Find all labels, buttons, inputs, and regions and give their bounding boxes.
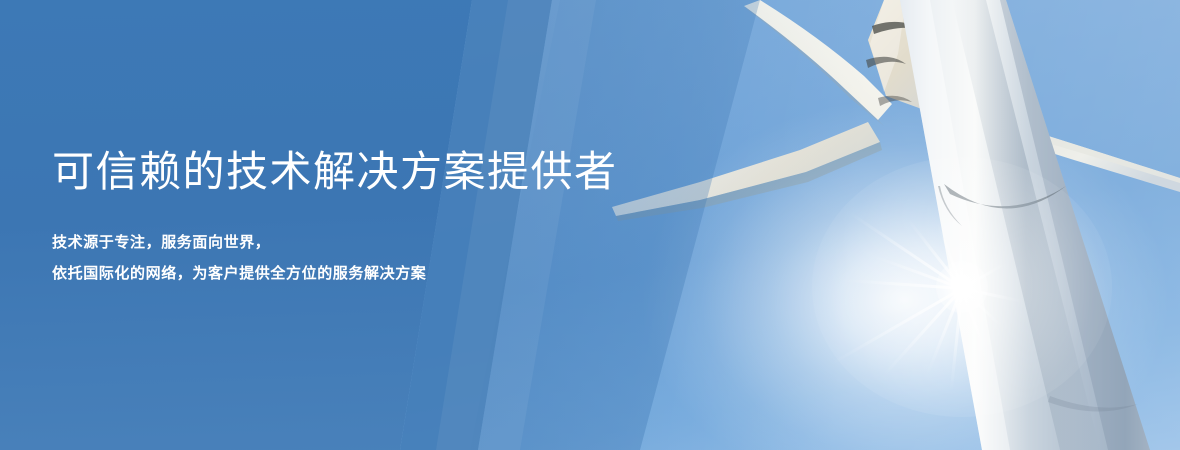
banner-copy: 可信赖的技术解决方案提供者 技术源于专注，服务面向世界， 依托国际化的网络，为客… — [52, 145, 752, 289]
banner-subtitle-line-2: 依托国际化的网络，为客户提供全方位的服务解决方案 — [52, 258, 752, 289]
banner-subtitle-line-1: 技术源于专注，服务面向世界， — [52, 227, 752, 258]
banner-headline: 可信赖的技术解决方案提供者 — [52, 145, 752, 199]
banner-subtitle: 技术源于专注，服务面向世界， 依托国际化的网络，为客户提供全方位的服务解决方案 — [52, 227, 752, 289]
hero-banner: 可信赖的技术解决方案提供者 技术源于专注，服务面向世界， 依托国际化的网络，为客… — [0, 0, 1180, 450]
